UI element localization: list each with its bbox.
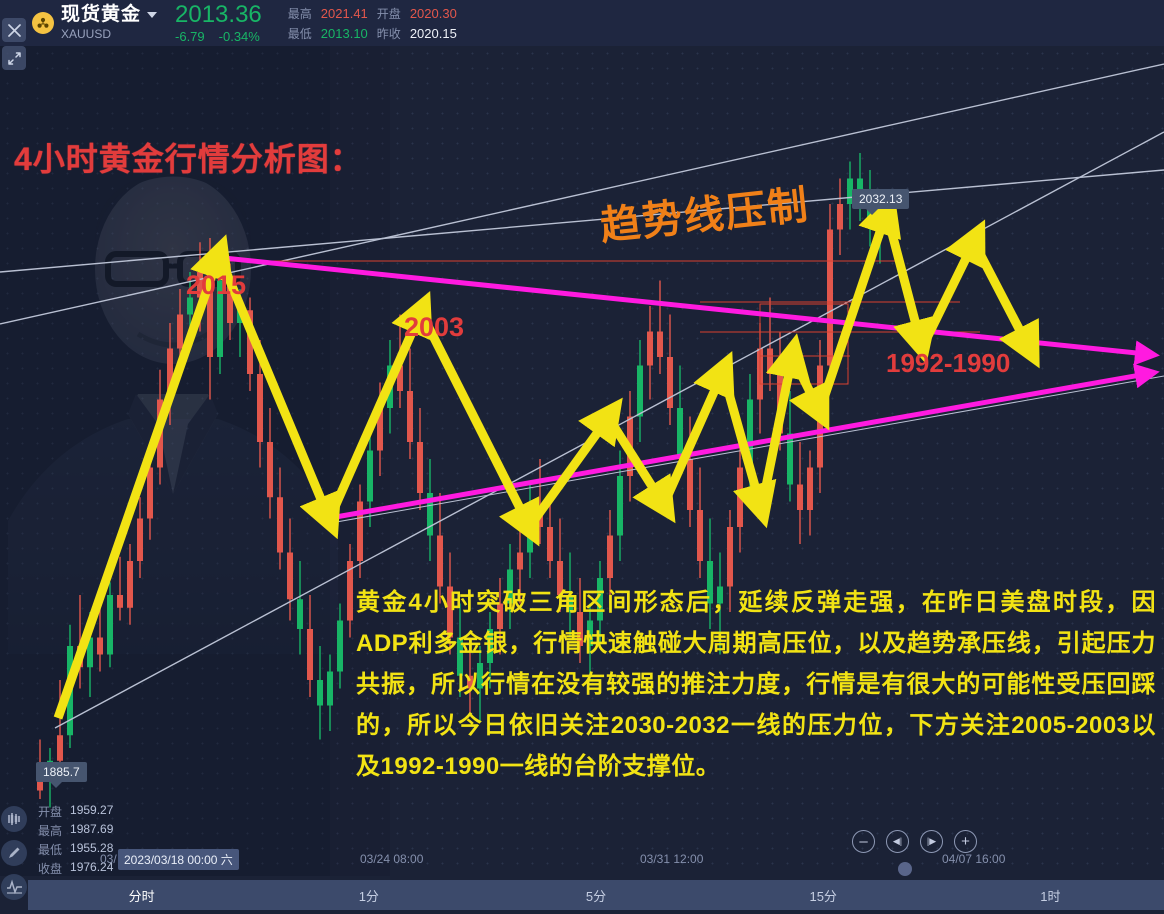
gray-trendline-top: [0, 64, 1164, 324]
last-price: 2013.36: [175, 3, 262, 27]
expand-icon[interactable]: [2, 46, 26, 70]
step-forward-button[interactable]: |▶: [920, 830, 943, 853]
symbol-avatar-icon: [32, 12, 54, 34]
pencil-icon[interactable]: [1, 840, 27, 866]
step-back-button[interactable]: ◀|: [886, 830, 909, 853]
time-tick: 03/24 08:00: [360, 852, 423, 866]
stat-value: 2020.15: [410, 26, 457, 41]
quote-stats: 最高2021.41开盘2020.30最低2013.10昨收2020.15: [288, 5, 457, 42]
stat-label: 最低: [288, 25, 312, 42]
symbol-name: 现货黄金: [61, 5, 141, 25]
ohlc-label: 最高: [38, 822, 62, 839]
tab-3[interactable]: 15分: [710, 886, 937, 905]
trading-chart-app: 4小时黄金行情分析图： 趋势线压制 2015 2003 1992-1990 20…: [0, 0, 1164, 914]
time-tick: 03/: [100, 852, 117, 866]
chart-canvas[interactable]: 4小时黄金行情分析图： 趋势线压制 2015 2003 1992-1990 20…: [0, 46, 1164, 876]
price-block: 2013.36 -6.79 -0.34%: [175, 3, 262, 44]
low-price-callout: 1885.7: [36, 762, 87, 782]
tab-2[interactable]: 5分: [482, 886, 709, 905]
ohlc-value: 1987.69: [70, 822, 113, 839]
magenta-support-line: [330, 374, 1146, 518]
chart-title-annotation: 4小时黄金行情分析图：: [14, 134, 363, 180]
stat-label: 开盘: [377, 5, 401, 22]
stat-label: 最高: [288, 5, 312, 22]
zoom-in-button[interactable]: +: [954, 830, 977, 853]
left-toolbar: [0, 0, 28, 914]
symbol-block[interactable]: 现货黄金 XAUUSD: [61, 5, 157, 41]
zoom-out-button[interactable]: –: [852, 830, 875, 853]
time-tick: 04/07 16:00: [942, 852, 1005, 866]
tab-4[interactable]: 1时: [937, 886, 1164, 905]
gray-trendline-upper: [0, 170, 1164, 272]
timeframe-tabbar[interactable]: 分时1分5分15分1时: [28, 880, 1164, 910]
indicator-icon[interactable]: [1, 874, 27, 900]
close-icon[interactable]: [2, 18, 26, 42]
change-percent: -0.34%: [219, 29, 260, 44]
level-label-2003: 2003: [404, 312, 464, 343]
stat-label: 昨收: [377, 25, 401, 42]
chart-nav-controls[interactable]: –◀||▶+: [852, 830, 977, 853]
analysis-text: 黄金4小时突破三角区间形态后，延续反弹走强，在昨日美盘时段，因ADP利多金银，行…: [356, 582, 1156, 787]
tab-0[interactable]: 分时: [28, 886, 255, 905]
change-absolute: -6.79: [175, 29, 205, 44]
analysis-paragraph: 黄金4小时突破三角区间形态后，延续反弹走强，在昨日美盘时段，因ADP利多金银，行…: [356, 582, 1156, 787]
scroll-handle[interactable]: [898, 862, 912, 876]
ohlc-value: 1959.27: [70, 803, 113, 820]
chevron-down-icon[interactable]: [147, 12, 157, 18]
level-label-2015: 2015: [186, 270, 246, 301]
symbol-code: XAUUSD: [61, 27, 157, 41]
ohlc-label: 开盘: [38, 803, 62, 820]
time-axis: 03/03/24 08:0003/31 12:0004/07 16:002023…: [0, 848, 1164, 876]
level-label-range: 1992-1990: [886, 348, 1010, 379]
high-price-callout: 2032.13: [852, 189, 909, 209]
stat-value: 2020.30: [410, 6, 457, 21]
stat-value: 2021.41: [321, 6, 368, 21]
time-tick: 03/31 12:00: [640, 852, 703, 866]
candles-icon[interactable]: [1, 806, 27, 832]
quote-header: 现货黄金 XAUUSD 2013.36 -6.79 -0.34% 最高2021.…: [0, 0, 1164, 46]
time-cursor-label: 2023/03/18 00:00 六: [118, 849, 239, 870]
bottom-strip: [0, 910, 1164, 914]
stat-value: 2013.10: [321, 26, 368, 41]
tab-1[interactable]: 1分: [255, 886, 482, 905]
